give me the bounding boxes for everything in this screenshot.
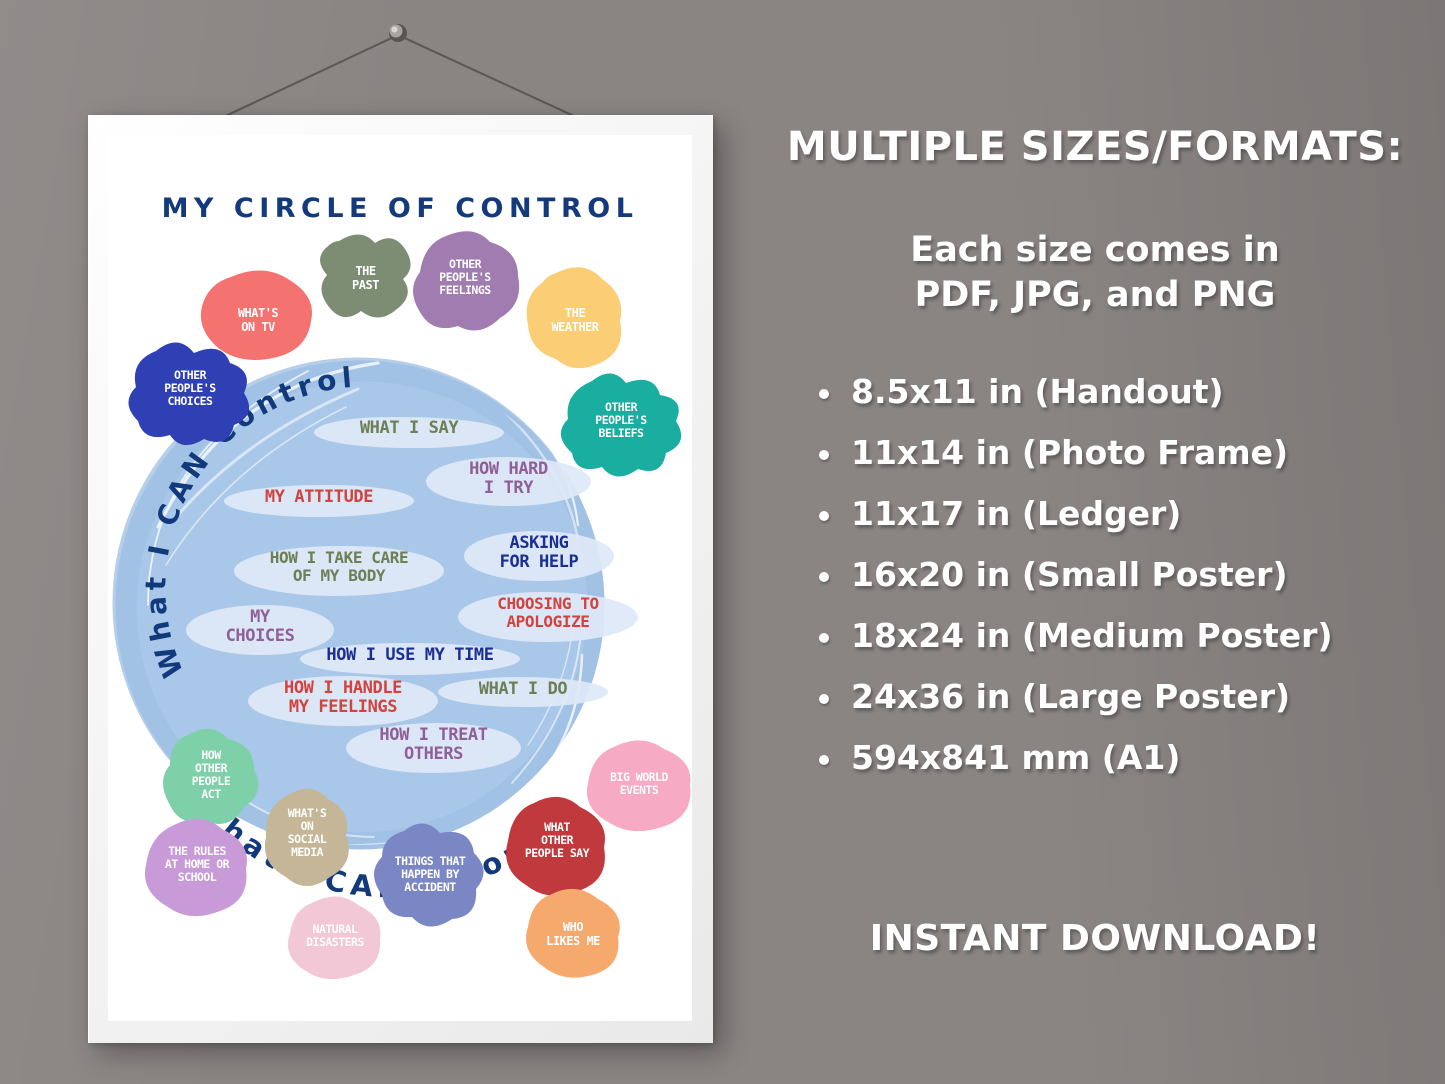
control-item: MY CHOICES [186,608,334,646]
picture-frame: MY CIRCLE OF CONTROL [88,115,713,1043]
blob-label: THE WEATHER [520,307,630,334]
size-option: 8.5x11 in (Handout) [805,372,1445,411]
control-item: MY ATTITUDE [224,488,414,507]
control-item: CHOOSING TO APOLOGIZE [458,595,638,631]
blob-label: HOW OTHER PEOPLE ACT [156,749,266,801]
blob-label: OTHER PEOPLE'S CHOICES [126,369,254,408]
poster-artwork: MY CIRCLE OF CONTROL [108,135,692,1021]
blob-label: BIG WORLD EVENTS [580,771,692,797]
blob-label: WHAT'S ON SOCIAL MEDIA [258,807,356,859]
blob-label: THINGS THAT HAPPEN BY ACCIDENT [370,855,490,894]
size-options-list: 8.5x11 in (Handout) 11x14 in (Photo Fram… [805,372,1445,799]
frame-mat: MY CIRCLE OF CONTROL [108,135,692,1021]
panel-subtitle: Each size comes in PDF, JPG, and PNG [745,228,1445,318]
blob-label: NATURAL DISASTERS [282,923,388,949]
blob-label: THE PAST [313,265,418,292]
control-item: HOW I TAKE CARE OF MY BODY [234,549,444,585]
blob-label: WHO LIKES ME [518,921,628,948]
blob-label: OTHER PEOPLE'S BELIEFS [556,401,686,440]
uncontrollable-blob: WHO LIKES ME [518,887,628,983]
uncontrollable-blob: THE PAST [313,233,418,325]
size-option: 11x14 in (Photo Frame) [805,433,1445,472]
control-item: HOW I HANDLE MY FEELINGS [248,679,438,717]
uncontrollable-blob: THINGS THAT HAPPEN BY ACCIDENT [370,823,490,933]
control-item: HOW I TREAT OTHERS [346,726,521,764]
blob-label: WHAT OTHER PEOPLE SAY [498,821,616,860]
control-item: ASKING FOR HELP [464,534,614,572]
instant-download-text: INSTANT DOWNLOAD! [745,918,1445,959]
control-item: WHAT I DO [438,680,608,699]
blob-label: WHAT'S ON TV [193,307,323,334]
uncontrollable-blob: NATURAL DISASTERS [282,895,388,983]
size-option: 24x36 in (Large Poster) [805,677,1445,716]
size-option: 594x841 mm (A1) [805,738,1445,777]
uncontrollable-blob: OTHER PEOPLE'S FEELINGS [406,230,524,342]
control-item: WHAT I SAY [314,419,504,438]
control-item: HOW I USE MY TIME [300,646,520,665]
uncontrollable-blob: WHAT'S ON SOCIAL MEDIA [258,787,356,897]
size-option: 11x17 in (Ledger) [805,494,1445,533]
uncontrollable-blob: OTHER PEOPLE'S CHOICES [126,341,254,451]
listing-details-panel: MULTIPLE SIZES/FORMATS: Each size comes … [745,0,1445,1084]
size-option: 18x24 in (Medium Poster) [805,616,1445,655]
blob-label: OTHER PEOPLE'S FEELINGS [406,258,524,297]
panel-title: MULTIPLE SIZES/FORMATS: [745,124,1445,170]
uncontrollable-blob: THE WEATHER [520,265,630,375]
uncontrollable-blob: THE RULES AT HOME OR SCHOOL [138,817,256,925]
blob-label: THE RULES AT HOME OR SCHOOL [138,845,256,884]
size-option: 16x20 in (Small Poster) [805,555,1445,594]
control-item: HOW HARD I TRY [426,460,591,498]
